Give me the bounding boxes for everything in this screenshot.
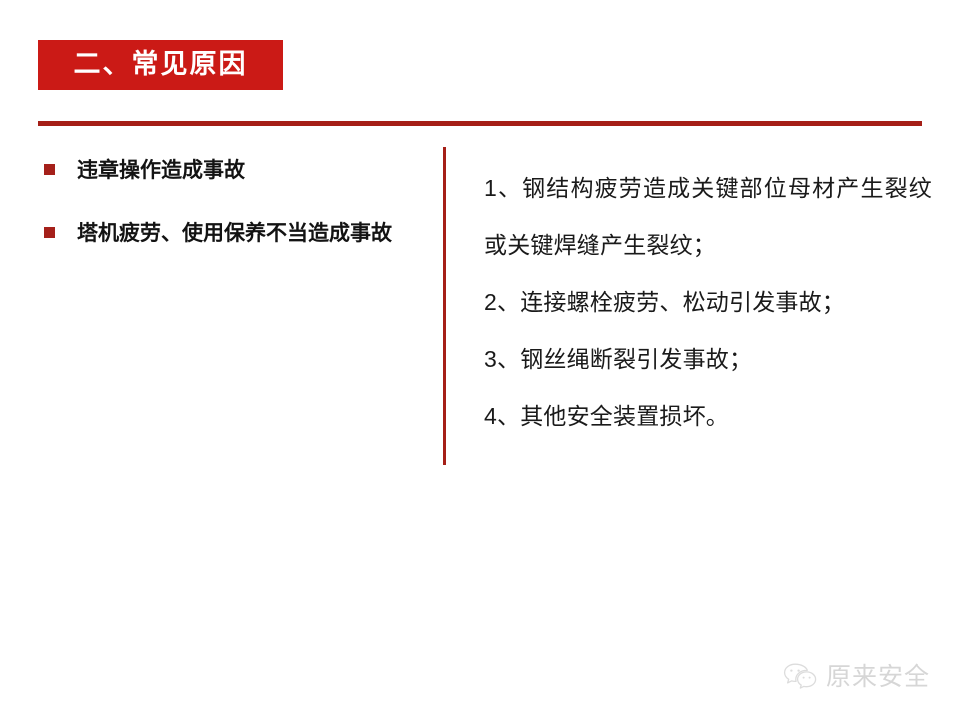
section-title-text: 二、常见原因: [74, 51, 248, 78]
left-bullet-list: 违章操作造成事故 塔机疲劳、使用保养不当造成事故: [38, 152, 418, 278]
right-numbered-list: 1、钢结构疲劳造成关键部位母材产生裂纹或关键焊缝产生裂纹； 2、连接螺栓疲劳、松…: [484, 160, 932, 445]
column-divider-rule: [443, 147, 446, 465]
numbered-item-4: 4、其他安全装置损坏。: [484, 388, 932, 445]
list-item: 违章操作造成事故: [38, 152, 418, 189]
list-item: 塔机疲劳、使用保养不当造成事故: [38, 215, 418, 252]
numbered-item-3: 3、钢丝绳断裂引发事故；: [484, 331, 932, 388]
square-bullet-icon: [44, 227, 55, 238]
square-bullet-icon: [44, 164, 55, 175]
bullet-item-label: 违章操作造成事故: [77, 159, 245, 182]
watermark: 原来安全: [783, 662, 930, 692]
header-divider-rule: [38, 121, 922, 126]
numbered-item-1: 1、钢结构疲劳造成关键部位母材产生裂纹或关键焊缝产生裂纹；: [484, 160, 932, 274]
wechat-bubbles-icon: [783, 662, 817, 692]
bullet-item-label: 塔机疲劳、使用保养不当造成事故: [77, 222, 392, 245]
numbered-item-2: 2、连接螺栓疲劳、松动引发事故；: [484, 274, 932, 331]
section-title-badge: 二、常见原因: [38, 40, 283, 90]
watermark-label: 原来安全: [826, 665, 930, 690]
slide-canvas: 二、常见原因 违章操作造成事故 塔机疲劳、使用保养不当造成事故 1、钢结构疲劳造…: [0, 0, 960, 720]
